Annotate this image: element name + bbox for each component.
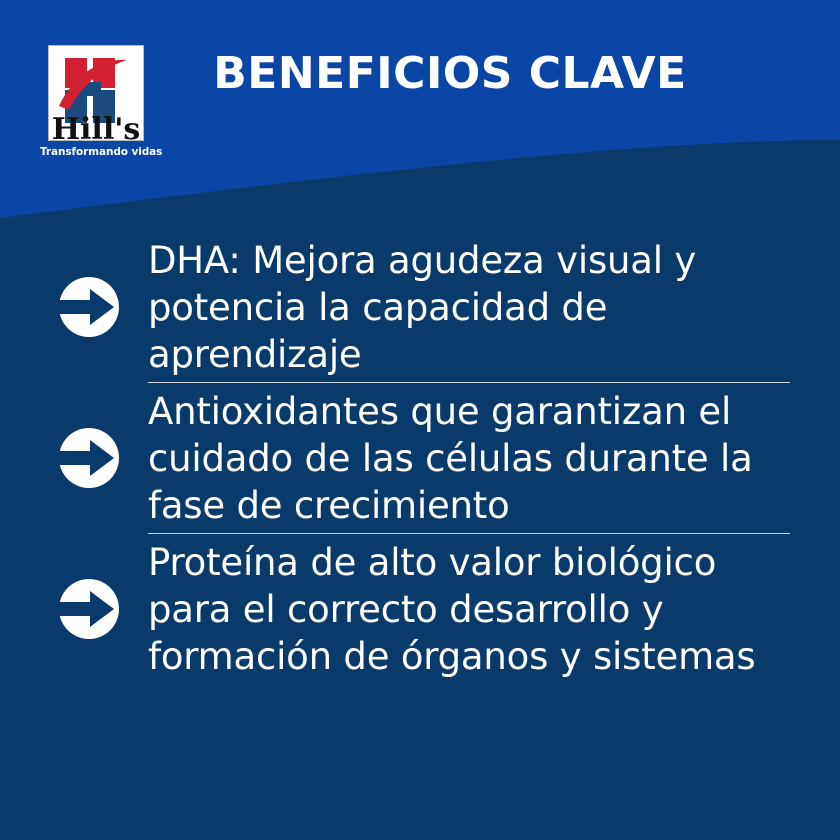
benefit-item: DHA: Mejora agudeza visual y potencia la… xyxy=(0,232,840,382)
benefit-text: Antioxidantes que garantizan el cuidado … xyxy=(148,388,840,529)
svg-text:Hill's: Hill's xyxy=(52,112,141,140)
benefit-item: Proteína de alto valor biológico para el… xyxy=(0,534,840,684)
arrow-right-circle-icon xyxy=(58,427,120,489)
benefits-infographic: Hill's Transformando vidas BENEFICIOS CL… xyxy=(0,0,840,840)
header-content: Hill's Transformando vidas BENEFICIOS CL… xyxy=(0,0,840,180)
benefit-item: Antioxidantes que garantizan el cuidado … xyxy=(0,383,840,533)
benefits-list: DHA: Mejora agudeza visual y potencia la… xyxy=(0,232,840,684)
benefit-text: Proteína de alto valor biológico para el… xyxy=(148,539,840,680)
arrow-right-circle-icon xyxy=(58,276,120,338)
benefit-text: DHA: Mejora agudeza visual y potencia la… xyxy=(148,237,840,378)
page-title: BENEFICIOS CLAVE xyxy=(0,52,840,96)
brand-tagline: Transformando vidas xyxy=(40,147,152,159)
arrow-right-circle-icon xyxy=(58,578,120,640)
